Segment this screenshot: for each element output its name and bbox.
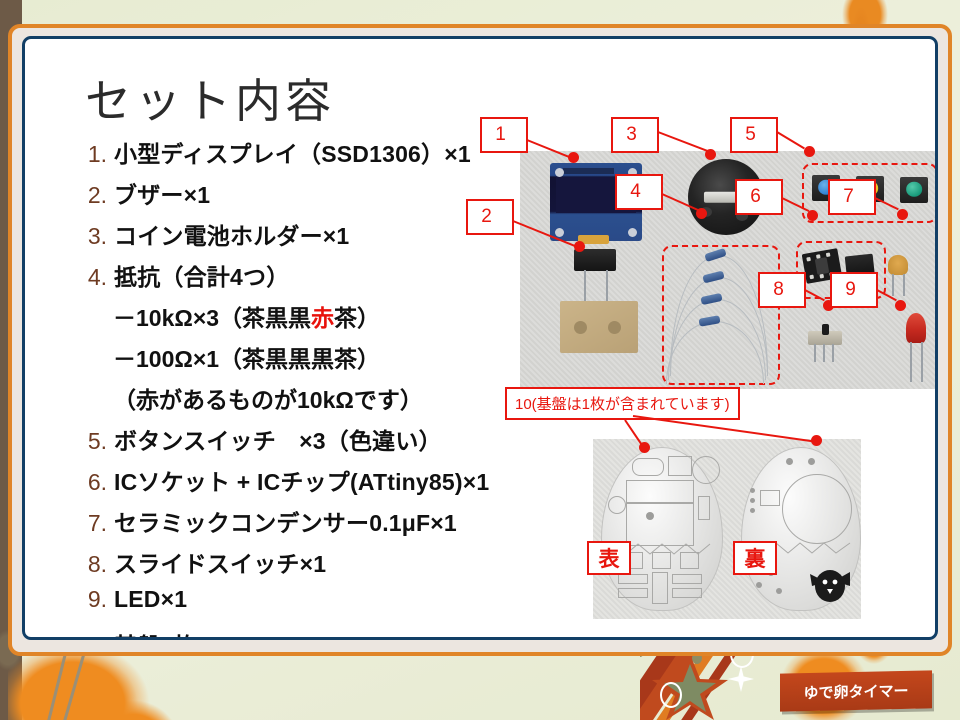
buzzer-leg-1 xyxy=(584,270,586,302)
led-leg-2 xyxy=(921,342,923,382)
list-item-8-number: 8. xyxy=(67,551,114,578)
pcb-front-res-3 xyxy=(672,574,702,584)
ic-socket-pin-5 xyxy=(819,274,824,279)
list-item-5: 5. ボタンスイッチ ×3（色違い） xyxy=(67,422,487,463)
cap-leg-1 xyxy=(892,274,894,296)
pcb-front-res-1 xyxy=(618,574,648,584)
list-item-1: 1. 小型ディスプレイ（SSD1306）×1 xyxy=(67,135,487,176)
callout-5-leader xyxy=(776,131,804,149)
callout-6-dot xyxy=(807,210,818,221)
callout-2-dot xyxy=(574,241,585,252)
deck-title-badge: ゆで卵タイマー xyxy=(780,670,932,711)
pcb-front-res-4 xyxy=(672,588,702,598)
deco-ring-1 xyxy=(660,682,682,708)
list-item-2-number: 2. xyxy=(67,182,114,209)
list-item-7: 7. セラミックコンデンサー0.1μF×1 xyxy=(67,504,487,545)
pcb-front-pad-1 xyxy=(646,512,654,520)
callout-9: 9 xyxy=(830,272,878,308)
slide-leg-3 xyxy=(832,344,834,362)
pcb-front-rect-3 xyxy=(698,496,710,520)
pcb-front-circle xyxy=(692,456,720,484)
ic-socket-pin-2 xyxy=(816,254,821,259)
list-item-3: 3. コイン電池ホルダー×1 xyxy=(67,217,487,258)
callout-boards-note: 10(基盤は1枚が含まれています) xyxy=(505,387,740,420)
pcb-back-pad-4 xyxy=(750,498,755,503)
cap-leg-2 xyxy=(903,274,905,296)
label-back-side: 裏 xyxy=(733,541,777,575)
callout-7-dot xyxy=(897,209,908,220)
list-item-7-label: セラミックコンデンサー0.1μF×1 xyxy=(114,504,457,538)
tact-cap-green xyxy=(906,182,922,197)
parts-list: 1. 小型ディスプレイ（SSD1306）×1 2. ブザー×1 3. コイン電池… xyxy=(67,135,487,640)
callout-3-dot xyxy=(705,149,716,160)
callout-7: 7 xyxy=(828,179,876,215)
list-item-10: 10. 基盤1枚 xyxy=(67,627,487,640)
ic-socket-notch xyxy=(815,257,829,274)
pcb-front-outline-1 xyxy=(632,458,664,476)
ic-socket-pin-1 xyxy=(806,257,811,262)
ic-socket-pin-4 xyxy=(809,275,814,280)
list-item-3-number: 3. xyxy=(67,223,114,250)
sub-item-10k-pre: －10kΩ×3（茶黒黒 xyxy=(113,305,311,331)
ceramic-capacitor xyxy=(888,255,908,275)
sub-item-note: （赤があるものが10kΩです） xyxy=(67,381,487,422)
callout-2: 2 xyxy=(466,199,514,235)
slide-switch xyxy=(808,331,842,345)
list-item-9-number: 9. xyxy=(67,586,114,613)
pcb-front xyxy=(601,447,723,611)
pcb-back-pad-1 xyxy=(786,458,793,465)
cardboard-hole-1 xyxy=(574,321,587,334)
slide-switch-knob xyxy=(822,324,829,335)
callout-5-dot xyxy=(804,146,815,157)
oled-mount-hole-1 xyxy=(555,168,564,177)
list-item-2-label: ブザー×1 xyxy=(114,176,210,210)
pcb-back-circle xyxy=(782,474,852,544)
list-item-9: 9. LED×1 xyxy=(67,586,487,627)
callout-4-dot xyxy=(696,208,707,219)
sub-item-10k: －10kΩ×3（茶黒黒赤茶） xyxy=(67,299,487,340)
list-item-5-label: ボタンスイッチ ×3（色違い） xyxy=(114,422,442,456)
cardboard-hole-2 xyxy=(608,321,621,334)
tact-button-green xyxy=(900,177,928,203)
pcb-back-pad-5 xyxy=(750,508,755,513)
callout-3: 3 xyxy=(611,117,659,153)
list-item-10-label: 基盤1枚 xyxy=(114,627,197,640)
callout-4: 4 xyxy=(615,174,663,210)
list-item-1-label: 小型ディスプレイ（SSD1306）×1 xyxy=(114,135,471,169)
pcb-back-pad-2 xyxy=(808,458,815,465)
list-item-9-label: LED×1 xyxy=(114,586,187,613)
buzzer-part xyxy=(574,249,616,271)
sub-item-10k-post: 茶） xyxy=(334,305,380,331)
callout-boards-dot-left xyxy=(639,442,650,453)
oled-mount-hole-3 xyxy=(555,228,564,237)
pcb-boards-photo xyxy=(593,439,861,619)
callout-1-dot xyxy=(568,152,579,163)
list-item-6-label: ICソケット + ICチップ(ATtiny85)×1 xyxy=(114,463,489,497)
pcb-back-pad-8 xyxy=(756,582,762,588)
slide-canvas: セット内容 1. 小型ディスプレイ（SSD1306）×1 2. ブザー×1 3.… xyxy=(0,0,960,720)
pcb-front-outline-2 xyxy=(668,456,692,476)
pcb-front-ic xyxy=(652,572,668,604)
oled-header-pins xyxy=(563,168,615,174)
callout-5: 5 xyxy=(730,117,778,153)
pcb-back-pad-3 xyxy=(750,488,755,493)
pcb-front-pad-circle xyxy=(608,496,626,514)
callout-1: 1 xyxy=(480,117,528,153)
list-item-4: 4. 抵抗（合計4つ） xyxy=(67,258,487,299)
oled-mount-hole-4 xyxy=(628,228,637,237)
list-item-4-number: 4. xyxy=(67,264,114,291)
content-card: セット内容 1. 小型ディスプレイ（SSD1306）×1 2. ブザー×1 3.… xyxy=(22,36,938,640)
slide-leg-1 xyxy=(814,344,816,362)
slide-leg-2 xyxy=(823,344,825,362)
red-led xyxy=(906,313,926,343)
pcb-back-rect xyxy=(760,490,780,506)
sub-item-10k-red-band: 赤 xyxy=(311,305,334,331)
list-item-10-number: 10. xyxy=(67,633,114,640)
pcb-front-rect-2 xyxy=(626,502,694,546)
chick-artwork xyxy=(804,556,856,606)
label-front-side: 表 xyxy=(587,541,631,575)
pcb-front-rect-1 xyxy=(626,480,694,504)
callout-8: 8 xyxy=(758,272,806,308)
callout-3-leader xyxy=(658,131,709,152)
cardboard-spacer xyxy=(560,301,638,353)
list-item-1-number: 1. xyxy=(67,141,114,168)
callout-boards-dot-right xyxy=(811,435,822,446)
list-item-3-label: コイン電池ホルダー×1 xyxy=(114,217,349,251)
sub-item-100ohm: －100Ω×1（茶黒黒黒茶） xyxy=(67,340,487,381)
callout-9-dot xyxy=(895,300,906,311)
ic-socket-pin-3 xyxy=(826,252,831,257)
deco-sparkle-2 xyxy=(728,666,754,692)
list-item-8: 8. スライドスイッチ×1 xyxy=(67,545,487,586)
list-item-6: 6. ICソケット + ICチップ(ATtiny85)×1 xyxy=(67,463,487,504)
list-item-7-number: 7. xyxy=(67,510,114,537)
list-item-4-label: 抵抗（合計4つ） xyxy=(114,258,289,292)
led-leg-1 xyxy=(910,342,912,382)
list-item-8-label: スライドスイッチ×1 xyxy=(114,545,326,579)
list-item-5-number: 5. xyxy=(67,428,114,455)
pcb-front-res-2 xyxy=(618,588,648,598)
callout-6: 6 xyxy=(735,179,783,215)
buzzer-leg-2 xyxy=(606,270,608,302)
pcb-back-pad-9 xyxy=(776,588,782,594)
page-title: セット内容 xyxy=(85,65,335,131)
list-item-6-number: 6. xyxy=(67,469,114,496)
list-item-2: 2. ブザー×1 xyxy=(67,176,487,217)
